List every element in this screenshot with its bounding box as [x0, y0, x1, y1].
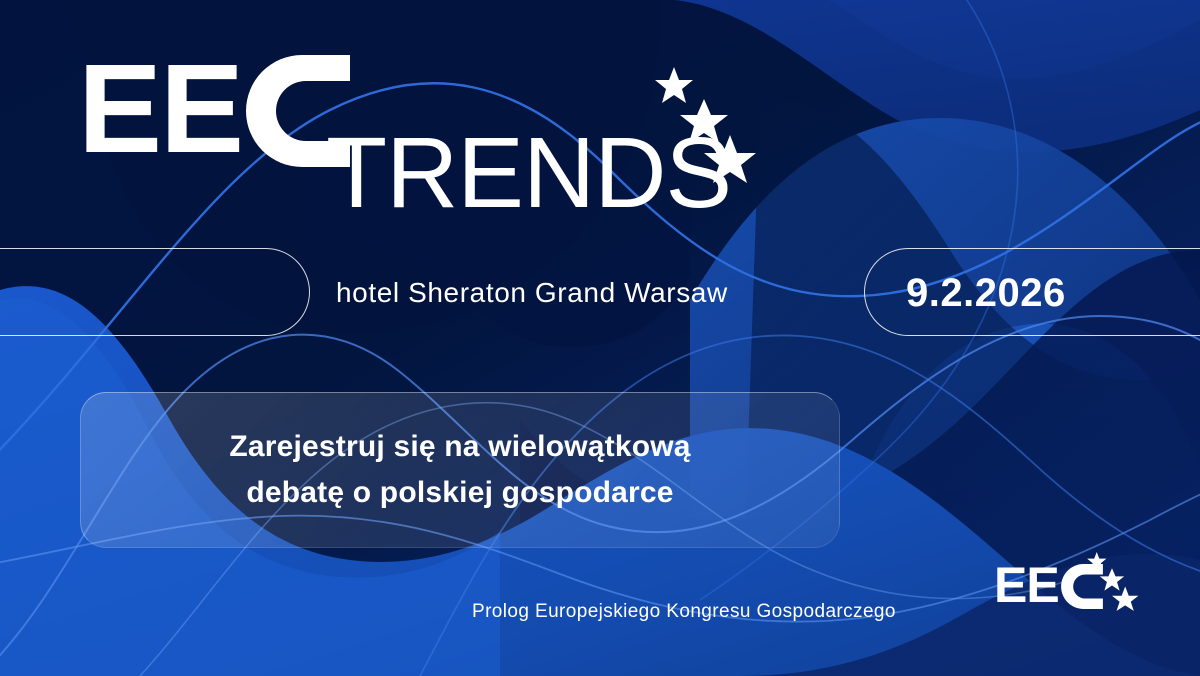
cta-panel[interactable]: Zarejestruj się na wielowątkową debatę o…: [80, 392, 840, 548]
eec-letter-e1: E: [78, 55, 160, 163]
cta-line-2: debatę o polskiej gospodarce: [246, 470, 673, 516]
venue-pill-outline: [0, 248, 310, 336]
eec-trends-banner: E E TRENDS hotel Sheraton Grand Warsaw 9…: [0, 0, 1200, 676]
event-date: 9.2.2026: [906, 270, 1066, 316]
venue-label: hotel Sheraton Grand Warsaw: [336, 276, 728, 310]
footer-letter-e2: E: [1026, 564, 1058, 607]
stars-icon: [646, 63, 766, 193]
eec-letter-e2: E: [160, 55, 242, 163]
footer-stars-icon: [1082, 550, 1144, 616]
eec-logo-icon: E E: [78, 55, 350, 173]
eec-trends-logo: E E TRENDS: [78, 55, 758, 225]
footer-letter-e1: E: [994, 564, 1026, 607]
footer-eec-logo: E E: [994, 556, 1154, 628]
cta-line-1: Zarejestruj się na wielowątkową: [229, 424, 690, 470]
footer-tagline: Prolog Europejskiego Kongresu Gospodarcz…: [472, 600, 896, 624]
